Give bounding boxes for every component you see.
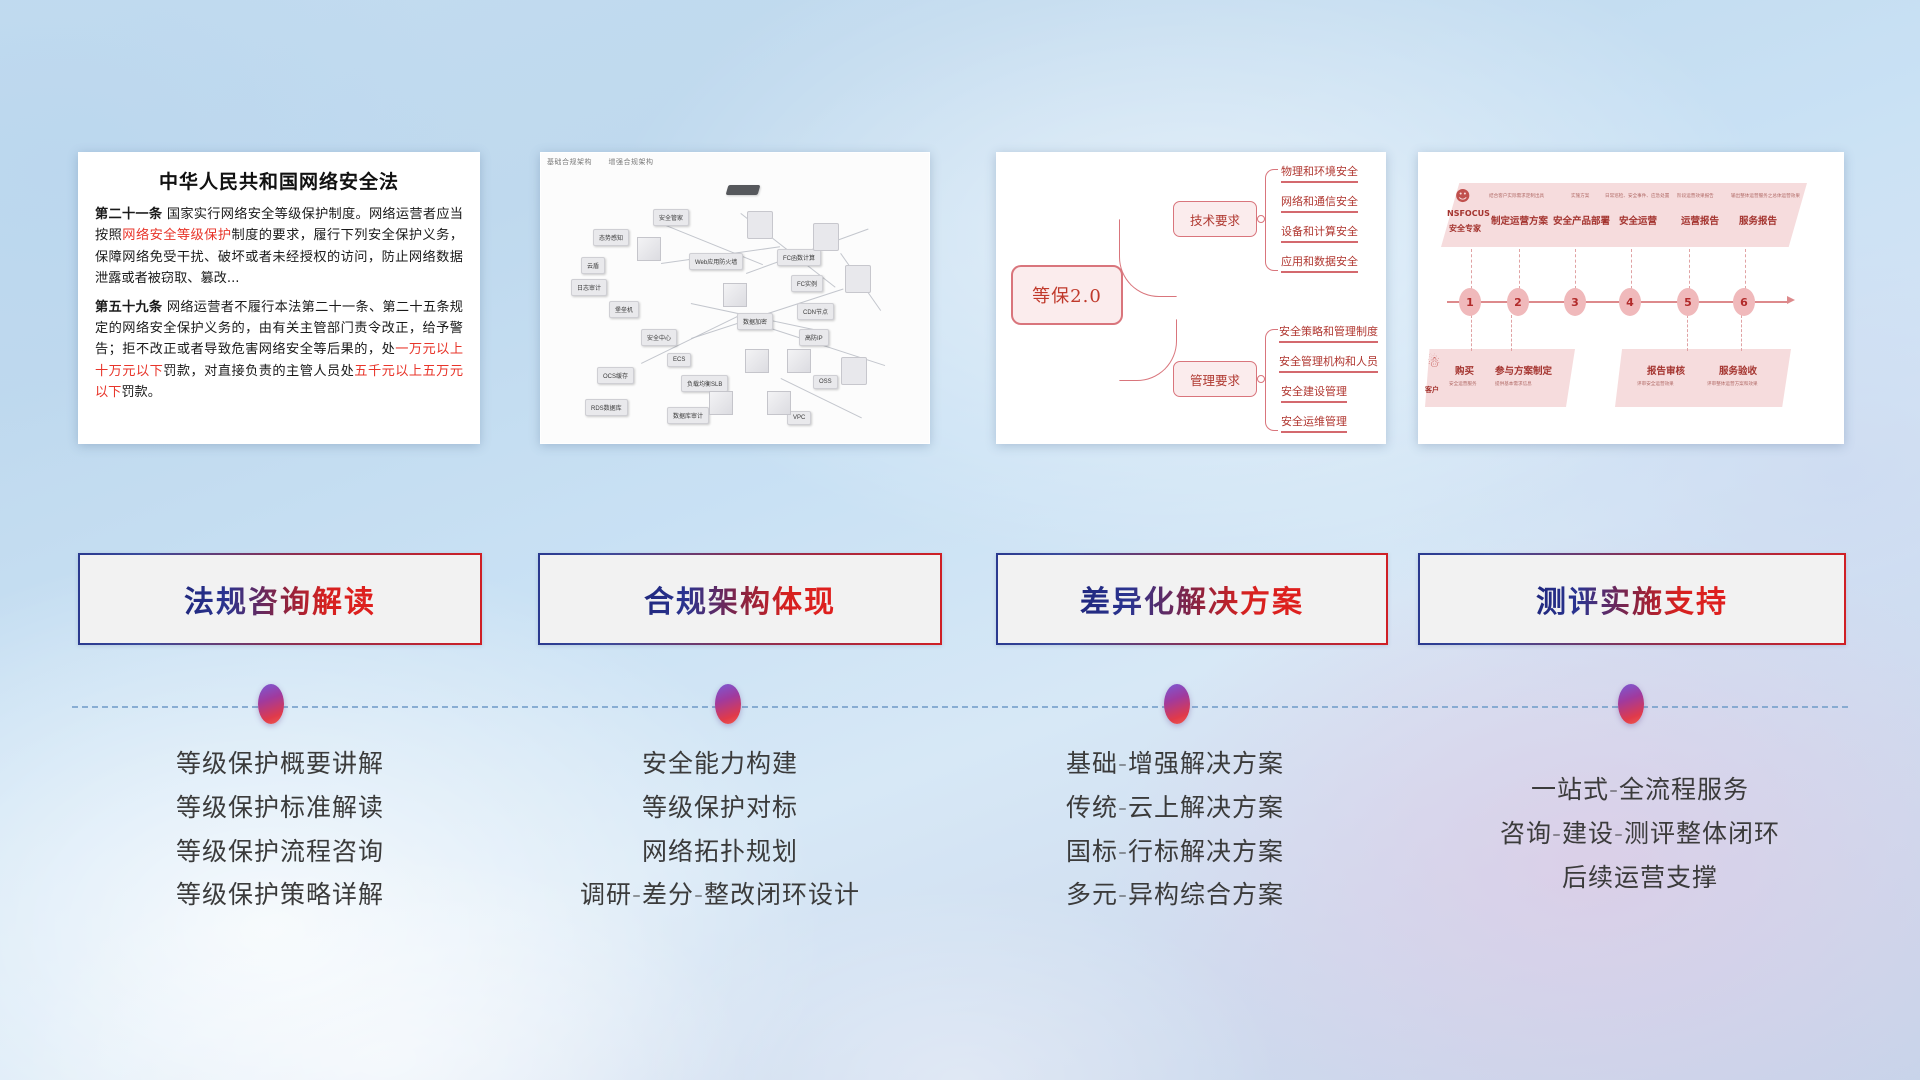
list-item: 多元-异构综合方案: [955, 873, 1395, 917]
timeline-marker-2[interactable]: [715, 684, 741, 724]
list-item: 网络拓扑规划: [500, 830, 940, 874]
list-item: 国标-行标解决方案: [955, 830, 1395, 874]
headline-label: 合规架构体现: [644, 577, 836, 621]
detail-column-3: 基础-增强解决方案 传统-云上解决方案 国标-行标解决方案 多元-异构综合方案: [955, 742, 1395, 917]
list-item: 等级保护标准解读: [60, 786, 500, 830]
list-item: 等级保护对标: [500, 786, 940, 830]
list-item: 一站式-全流程服务: [1400, 768, 1880, 812]
list-item: 等级保护概要讲解: [60, 742, 500, 786]
list-item: 调研-差分-整改闭环设计: [500, 873, 940, 917]
list-item: 安全能力构建: [500, 742, 940, 786]
headline-box-2[interactable]: 合规架构体现: [538, 553, 942, 645]
list-item: 等级保护策略详解: [60, 873, 500, 917]
list-item: 基础-增强解决方案: [955, 742, 1395, 786]
timeline-marker-1[interactable]: [258, 684, 284, 724]
headline-box-4[interactable]: 测评实施支持: [1418, 553, 1846, 645]
timeline-dashed-line: [72, 706, 1848, 708]
list-item: 传统-云上解决方案: [955, 786, 1395, 830]
headline-label: 测评实施支持: [1536, 577, 1728, 621]
headline-label: 差异化解决方案: [1080, 577, 1304, 621]
detail-column-4: 一站式-全流程服务 咨询-建设-测评整体闭环 后续运营支撑: [1400, 768, 1880, 899]
detail-column-2: 安全能力构建 等级保护对标 网络拓扑规划 调研-差分-整改闭环设计: [500, 742, 940, 917]
list-item: 后续运营支撑: [1400, 856, 1880, 900]
headline-label: 法规咨询解读: [184, 577, 376, 621]
detail-column-1: 等级保护概要讲解 等级保护标准解读 等级保护流程咨询 等级保护策略详解: [60, 742, 500, 917]
headline-row: 法规咨询解读 合规架构体现 差异化解决方案 测评实施支持: [0, 0, 1920, 1080]
headline-box-3[interactable]: 差异化解决方案: [996, 553, 1388, 645]
timeline-marker-4[interactable]: [1618, 684, 1644, 724]
list-item: 等级保护流程咨询: [60, 830, 500, 874]
timeline-marker-3[interactable]: [1164, 684, 1190, 724]
list-item: 咨询-建设-测评整体闭环: [1400, 812, 1880, 856]
headline-box-1[interactable]: 法规咨询解读: [78, 553, 482, 645]
